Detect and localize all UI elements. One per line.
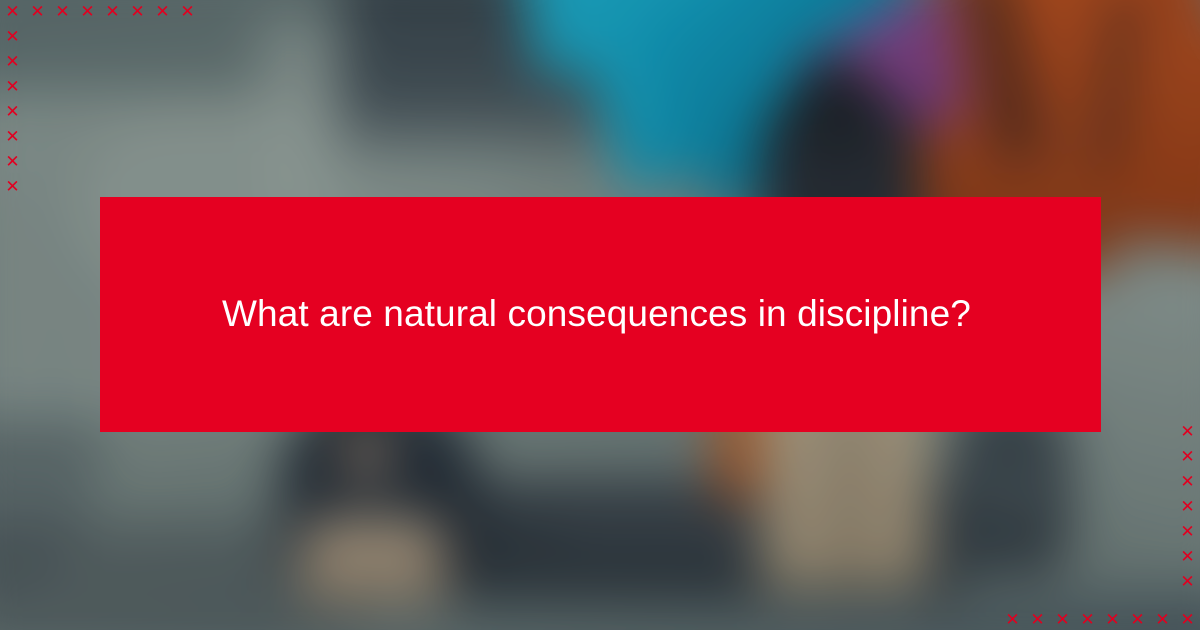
headline-banner: What are natural consequences in discipl… — [100, 197, 1101, 432]
page-title: What are natural consequences in discipl… — [100, 291, 1011, 337]
question-card: ✕✕✕✕✕✕✕✕✕✕✕✕✕✕✕ ✕✕✕✕✕✕✕✕✕✕✕✕✕✕✕ What are… — [0, 0, 1200, 630]
